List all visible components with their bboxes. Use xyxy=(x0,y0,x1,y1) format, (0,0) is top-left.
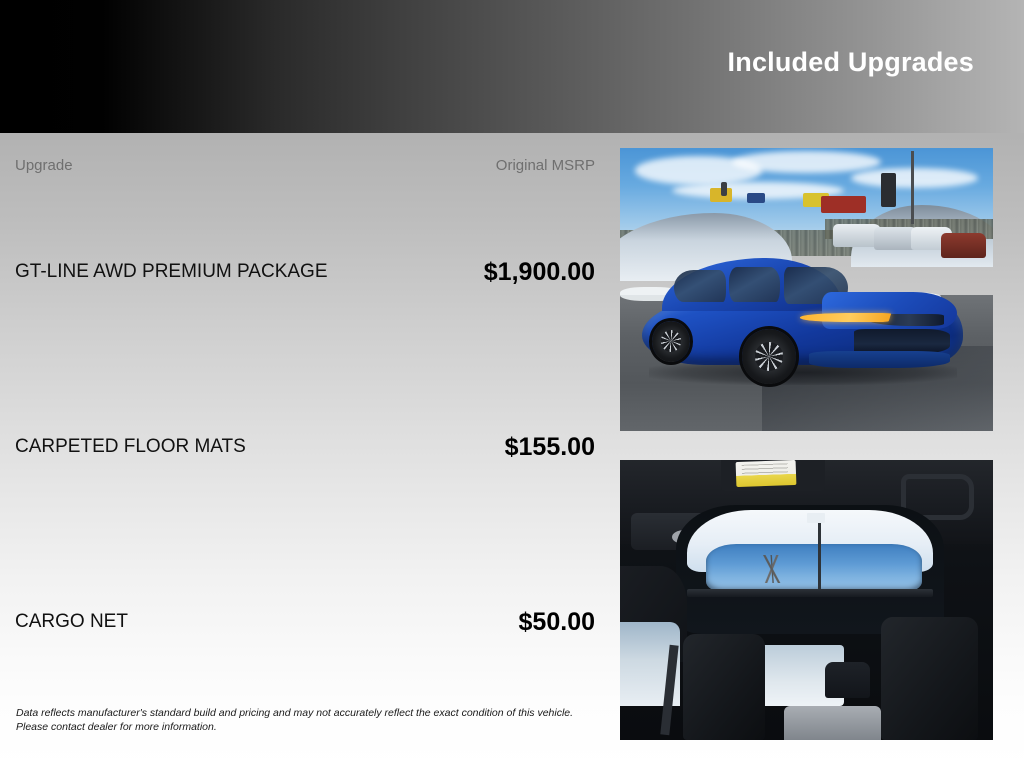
upgrade-price: $50.00 xyxy=(519,605,595,639)
cloud xyxy=(851,168,978,188)
disclaimer-text: Data reflects manufacturer's standard bu… xyxy=(16,706,596,734)
included-upgrades-page: Included Upgrades Upgrade Original MSRP … xyxy=(0,0,1024,768)
light-pole-lamp xyxy=(807,513,826,523)
front-left-seat xyxy=(683,634,765,740)
rear-wheel xyxy=(652,321,690,362)
wheel-spokes xyxy=(755,342,783,371)
upgrade-price: $155.00 xyxy=(505,430,595,464)
table-row: CARGO NET $50.00 xyxy=(0,605,608,639)
center-console xyxy=(784,706,881,740)
lot-vehicle xyxy=(941,233,986,258)
light-pole-through-glass xyxy=(818,516,821,589)
lot-sign xyxy=(881,173,896,207)
blue-sedan xyxy=(642,258,963,383)
label-text-lines xyxy=(741,464,788,476)
rear-quarter-glass xyxy=(674,270,725,302)
tree-branch-through-glass xyxy=(739,555,806,583)
column-header-upgrade: Upgrade xyxy=(15,156,73,176)
front-wheel xyxy=(742,329,797,384)
column-header-original-msrp: Original MSRP xyxy=(496,156,595,176)
interior-scene xyxy=(620,460,993,740)
upgrade-name: CARGO NET xyxy=(15,605,128,639)
page-title: Included Upgrades xyxy=(728,49,974,76)
front-right-seat xyxy=(881,617,978,740)
blue-container xyxy=(747,193,766,203)
airbag-warning-label xyxy=(735,460,796,487)
equipment-mast xyxy=(721,182,727,196)
disclaimer-line-2: Please contact dealer for more informati… xyxy=(16,720,596,734)
red-trailer xyxy=(821,196,866,213)
page-header-banner: Included Upgrades xyxy=(0,0,1024,133)
sunroof-glass xyxy=(706,544,922,592)
vehicle-exterior-photo[interactable] xyxy=(620,148,993,431)
upgrade-name: GT-LINE AWD PREMIUM PACKAGE xyxy=(15,255,328,289)
vehicle-interior-photo[interactable] xyxy=(620,460,993,740)
upgrade-name: CARPETED FLOOR MATS xyxy=(15,430,246,464)
lower-fascia xyxy=(809,351,950,368)
table-row: GT-LINE AWD PREMIUM PACKAGE $1,900.00 xyxy=(0,255,608,289)
upgrades-table: Upgrade Original MSRP GT-LINE AWD PREMIU… xyxy=(0,133,608,768)
rear-door-glass xyxy=(729,267,780,302)
table-header-row: Upgrade Original MSRP xyxy=(0,156,608,176)
light-pole xyxy=(911,151,914,225)
upgrade-price: $1,900.00 xyxy=(484,255,595,289)
sunroof-divider-trim xyxy=(687,589,933,597)
rear-headrest xyxy=(825,662,870,698)
header-title-container: Included Upgrades xyxy=(728,0,974,133)
daytime-running-light xyxy=(798,313,891,322)
table-row: CARPETED FLOOR MATS $155.00 xyxy=(0,430,608,464)
disclaimer-line-1: Data reflects manufacturer's standard bu… xyxy=(16,706,596,720)
wheel-spokes xyxy=(661,330,681,351)
exterior-scene xyxy=(620,148,993,431)
